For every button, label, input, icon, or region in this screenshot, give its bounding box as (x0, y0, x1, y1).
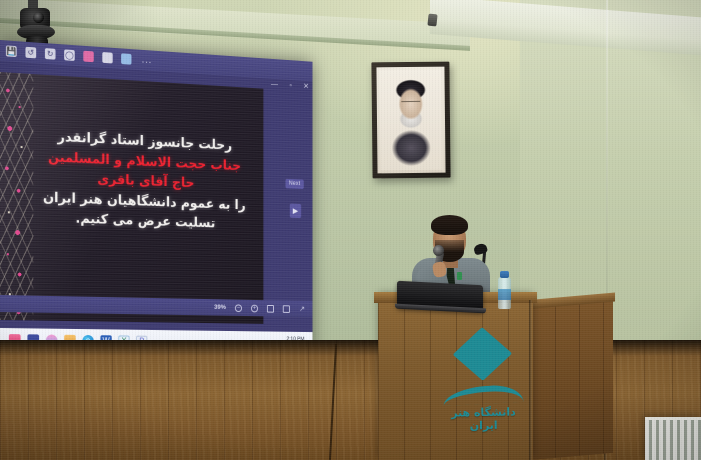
projection-screen: 💾 ↺ ↻ ◯ ... — ▫ ✕ رحلت جانسوز استاد گران… (0, 40, 312, 355)
comment-icon[interactable]: ◯ (64, 49, 75, 61)
slide-icon[interactable] (102, 52, 112, 63)
persian-floral-border (0, 72, 33, 320)
next-slide-button[interactable]: ▶ (290, 204, 301, 219)
framed-portrait (371, 62, 450, 179)
slide-canvas[interactable]: رحلت جانسوز استاد گرانقدر جناب حجت الاسل… (0, 72, 263, 324)
podium-side-panel (531, 299, 613, 460)
logo-diamond-shape (453, 327, 513, 381)
camera-lens-icon (33, 12, 44, 23)
bottle-cap (500, 271, 509, 278)
minimize-button[interactable]: — (271, 81, 278, 89)
microphone-head-icon (433, 245, 444, 256)
fit-slide-icon[interactable] (267, 304, 274, 312)
slide-text-block: رحلت جانسوز استاد گرانقدر جناب حجت الاسل… (29, 126, 258, 236)
present-icon[interactable] (83, 51, 93, 63)
ceiling-fixture-icon (427, 14, 437, 27)
close-button[interactable]: ✕ (303, 83, 309, 91)
zoom-level-label[interactable]: 39% (214, 304, 226, 311)
portrait-mat (376, 67, 445, 174)
next-tooltip: Next (285, 179, 303, 189)
university-logo: دانشگاه هنر ایران (436, 333, 530, 441)
window-controls[interactable]: — ▫ ✕ (271, 81, 309, 91)
toolbar-overflow-icon[interactable]: ... (142, 55, 153, 66)
logo-swoosh-shape (443, 384, 524, 406)
wall-radiator (645, 417, 701, 460)
glasses-icon (401, 101, 420, 105)
portrait-image (379, 70, 442, 171)
lecture-hall-photo: 💾 ↺ ↻ ◯ ... — ▫ ✕ رحلت جانسوز استاد گران… (0, 0, 701, 460)
zoom-in-icon[interactable]: + (251, 304, 258, 312)
save-icon[interactable]: 💾 (6, 45, 17, 57)
fullscreen-icon[interactable]: ↗ (299, 305, 306, 313)
maximize-button[interactable]: ▫ (289, 82, 291, 90)
normal-view-icon[interactable] (283, 305, 290, 313)
redo-icon[interactable]: ↻ (45, 48, 56, 60)
speaker-hair (431, 215, 468, 235)
bottle-label (498, 289, 511, 300)
speaker-badge (457, 272, 462, 280)
undo-icon[interactable]: ↺ (25, 47, 36, 59)
cloud-icon[interactable] (121, 53, 131, 64)
zoom-out-icon[interactable]: − (235, 304, 242, 312)
logo-text: دانشگاه هنر ایران (437, 405, 529, 433)
